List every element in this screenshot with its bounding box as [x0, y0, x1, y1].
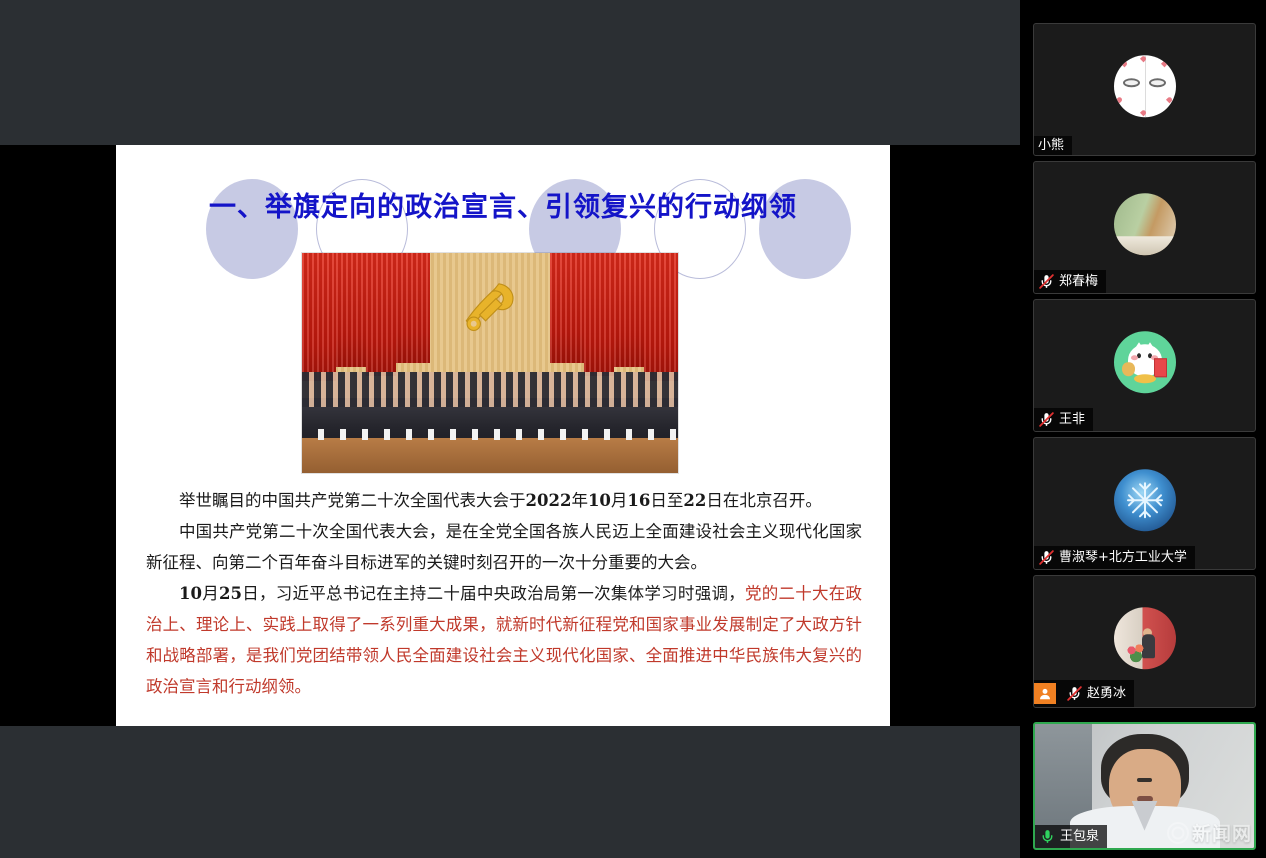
photo-curtain	[302, 253, 336, 381]
slide-paragraph-1: 举世瞩目的中国共产党第二十次全国代表大会于2022年10月16日至22日在北京召…	[146, 485, 862, 516]
gold-ingot-icon	[1134, 374, 1156, 383]
participant-tile[interactable]: 小熊	[1033, 23, 1256, 156]
congress-photo	[302, 253, 678, 473]
photo-curtain	[584, 253, 614, 376]
participant-name: 曹淑琴+北方工业大学	[1059, 551, 1187, 564]
photo-curtain	[366, 253, 396, 376]
avatar-flowers	[1125, 643, 1147, 663]
heart-icon	[1116, 96, 1123, 103]
slide-body-text: 举世瞩目的中国共产党第二十次全国代表大会于2022年10月16日至22日在北京召…	[146, 485, 862, 702]
heart-icon	[1161, 60, 1168, 67]
mic-muted-icon	[1038, 411, 1055, 428]
cat-cheek-left	[1131, 356, 1138, 361]
party-emblem-icon	[453, 267, 527, 345]
photo-curtain	[644, 253, 678, 381]
participant-name: 小熊	[1038, 139, 1064, 152]
shared-slide: 一、举旗定向的政治宣言、引领复兴的行动纲领	[116, 145, 890, 726]
participant-nameplate: 小熊	[1034, 136, 1072, 155]
avatar	[1114, 469, 1176, 531]
mic-muted-icon	[1038, 273, 1055, 290]
meeting-window: 一、举旗定向的政治宣言、引领复兴的行动纲领	[0, 0, 1266, 858]
photo-delegate-heads	[302, 372, 678, 407]
avatar	[1114, 607, 1176, 669]
mic-muted-icon	[1066, 685, 1083, 702]
avatar	[1114, 55, 1176, 117]
participant-name: 赵勇冰	[1087, 687, 1126, 700]
photo-front-table	[302, 438, 678, 473]
share-letterbox-top	[0, 0, 1020, 145]
participant-nameplate: 王非	[1034, 408, 1093, 431]
avatar-eye-right	[1149, 78, 1166, 87]
slide-paragraph-3: 10月25日，习近平总书记在主持二十届中央政治局第一次集体学习时强调，党的二十大…	[146, 578, 862, 702]
heart-icon	[1140, 56, 1147, 63]
host-person-icon	[1034, 683, 1056, 704]
share-letterbox-bottom	[0, 726, 1020, 858]
participant-rail[interactable]: 小熊 郑春梅	[1020, 0, 1266, 858]
snowflake-icon	[1125, 480, 1165, 520]
money-bag-icon	[1122, 362, 1135, 376]
participant-tile[interactable]: 赵勇冰	[1033, 575, 1256, 708]
avatar-eye-left	[1123, 78, 1140, 87]
photo-teacups	[302, 429, 678, 440]
photo-curtain	[550, 253, 584, 363]
avatar	[1114, 331, 1176, 393]
photo-curtain	[396, 253, 430, 363]
photo-curtain	[336, 253, 366, 367]
mic-muted-icon	[1038, 549, 1055, 566]
heart-icon	[1121, 60, 1128, 67]
heart-icon	[1140, 110, 1147, 117]
avatar	[1114, 193, 1176, 255]
participant-name: 郑春梅	[1059, 275, 1098, 288]
slide-title: 一、举旗定向的政治宣言、引领复兴的行动纲领	[116, 185, 890, 224]
participant-name: 王包泉	[1060, 830, 1099, 843]
participant-nameplate: 曹淑琴+北方工业大学	[1034, 546, 1195, 569]
participant-name: 王非	[1059, 413, 1085, 426]
mic-active-icon	[1039, 828, 1056, 845]
participant-tile[interactable]: 曹淑琴+北方工业大学	[1033, 437, 1256, 570]
participant-nameplate: 王包泉	[1035, 825, 1107, 848]
photo-curtain	[614, 253, 644, 367]
participant-tile[interactable]: 郑春梅	[1033, 161, 1256, 294]
slide-paragraph-2: 中国共产党第二十次全国代表大会，是在全党全国各族人民迈上全面建设社会主义现代化国…	[146, 516, 862, 578]
heart-icon	[1166, 96, 1173, 103]
avatar-divider	[1145, 55, 1146, 117]
fortune-sign-icon	[1154, 358, 1167, 377]
speaker-eye-right	[1142, 778, 1152, 782]
participant-nameplate: 郑春梅	[1034, 270, 1106, 293]
participant-nameplate: 赵勇冰	[1034, 680, 1134, 707]
active-speaker-tile[interactable]: 新闻网 王包泉	[1033, 722, 1256, 850]
participant-tile[interactable]: 王非	[1033, 299, 1256, 432]
